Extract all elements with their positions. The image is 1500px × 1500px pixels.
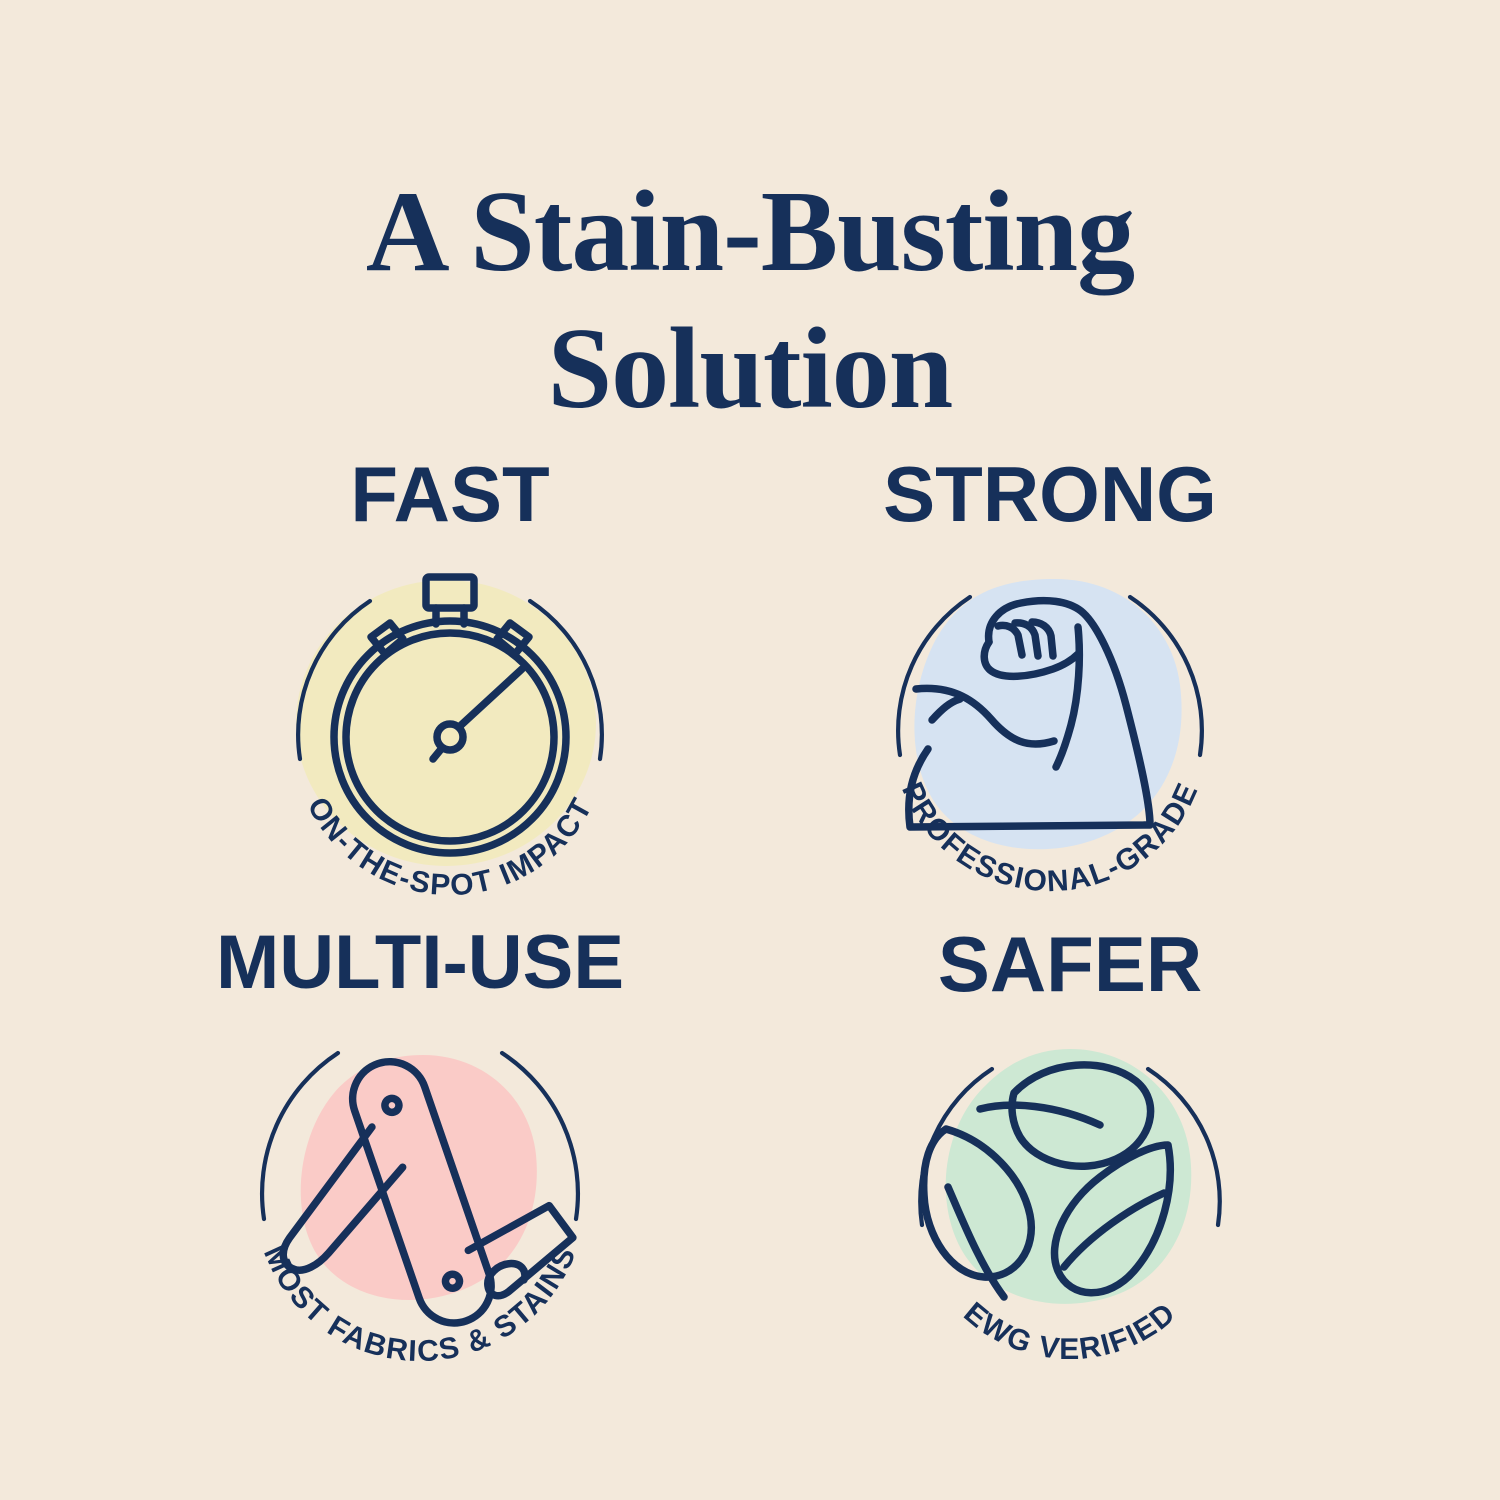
benefit-badge-multi-use: MULTI-USE (140, 925, 700, 1395)
badge-emblem-strong: PROFESSIONAL-GRADE (850, 527, 1250, 927)
badge-title-strong: STRONG (770, 455, 1330, 533)
page-title-line-2: Solution (0, 301, 1500, 438)
page-title-line-1: A Stain-Busting (0, 164, 1500, 301)
benefit-badge-grid: FAST (0, 455, 1500, 1435)
badge-title-multi-use: MULTI-USE (140, 925, 700, 1001)
badge-emblem-safer: EWG VERIFIED (870, 997, 1270, 1397)
badge-emblem-multi-use: MOST FABRICS & STAINS (220, 997, 620, 1397)
page-title: A Stain-Busting Solution (0, 164, 1500, 438)
badge-title-fast: FAST (170, 455, 730, 533)
stain-busting-solution-poster: A Stain-Busting Solution FAST (0, 0, 1500, 1500)
badge-caption-safer: EWG VERIFIED (958, 1296, 1183, 1366)
benefit-badge-safer: SAFER (790, 925, 1350, 1395)
badge-emblem-fast: ON-THE-SPOT IMPACT (250, 527, 650, 927)
badge-title-safer: SAFER (790, 925, 1350, 1003)
benefit-badge-fast: FAST (170, 455, 730, 925)
blob-blue (914, 579, 1181, 849)
benefit-badge-strong: STRONG (770, 455, 1330, 925)
